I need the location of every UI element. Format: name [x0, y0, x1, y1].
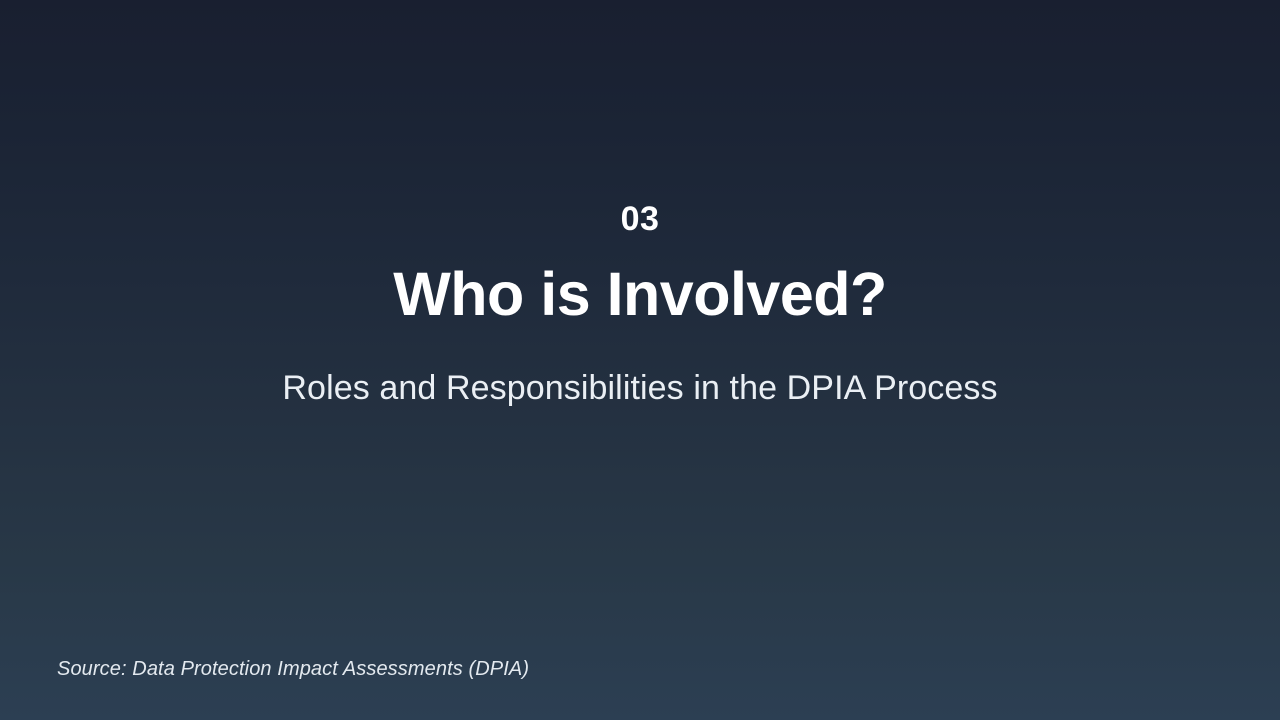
slide-root: 03 Who is Involved? Roles and Responsibi… [0, 0, 1280, 720]
section-number: 03 [621, 200, 660, 238]
slide-content-block: 03 Who is Involved? Roles and Responsibi… [0, 200, 1280, 409]
page-title: Who is Involved? [393, 262, 887, 328]
slide-subtitle: Roles and Responsibilities in the DPIA P… [282, 368, 997, 409]
source-note: Source: Data Protection Impact Assessmen… [57, 656, 529, 682]
